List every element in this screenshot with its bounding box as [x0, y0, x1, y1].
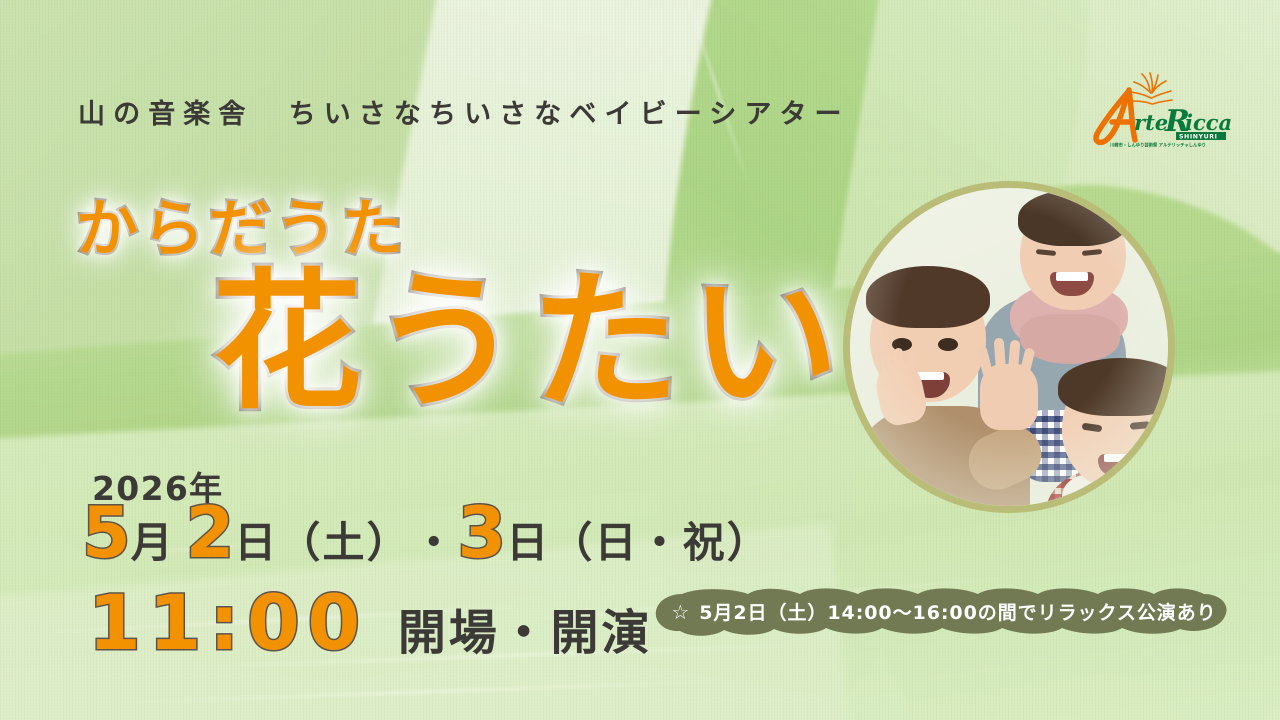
star-icon: ☆	[671, 600, 690, 624]
date-separator: ・	[413, 522, 456, 564]
poster-canvas: 山の音楽舎 ちいさなちいさなベイビーシアター rt	[0, 0, 1280, 720]
baby-photo	[850, 188, 1168, 506]
brush-streak	[103, 680, 743, 704]
arte-ricca-logo: rte R icca SHINYURI 川崎市・しんゆり芸術祭 アルテリッチャし…	[1072, 68, 1232, 150]
main-title-hanautai: 花うたい	[212, 268, 848, 418]
day1-unit: 日（土）	[234, 522, 410, 564]
time-line: 11:00 開場・開演	[88, 585, 652, 661]
relax-banner-text: ☆ 5月2日（土）14:00〜16:00の間でリラックス公演あり	[640, 584, 1248, 640]
day2-number: 3	[458, 498, 507, 568]
start-time: 11:00	[88, 585, 368, 661]
svg-text:rte: rte	[1134, 110, 1168, 135]
day2-unit: 日（日・祝）	[506, 522, 771, 564]
relax-banner-label: 5月2日（土）14:00〜16:00の間でリラックス公演あり	[699, 598, 1216, 625]
logo-tiny-text: 川崎市・しんゆり芸術祭 アルテリッチャしんゆり	[1109, 142, 1206, 149]
svg-text:SHINYURI: SHINYURI	[1179, 134, 1218, 141]
relax-performance-banner: ☆ 5月2日（土）14:00〜16:00の間でリラックス公演あり	[640, 584, 1248, 640]
month-unit: 月	[131, 522, 174, 564]
subtitle-karadauta: からだうた	[76, 178, 408, 268]
baby-photo-circle	[843, 181, 1175, 513]
day1-number: 2	[186, 498, 235, 568]
date-line: 5 月 2 日（土） ・ 3 日（日・祝）	[82, 498, 771, 568]
time-label: 開場・開演	[398, 609, 652, 657]
month-number: 5	[82, 498, 131, 568]
svg-text:icca: icca	[1185, 110, 1232, 135]
kicker-text: 山の音楽舎 ちいさなちいさなベイビーシアター	[78, 92, 850, 131]
